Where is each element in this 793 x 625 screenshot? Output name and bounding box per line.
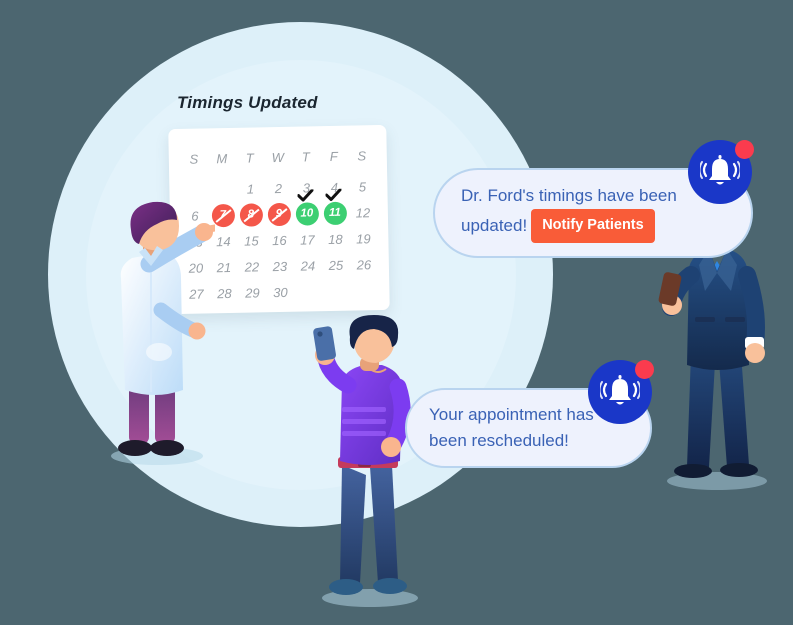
weekday-label: T (293, 143, 319, 169)
calendar-day[interactable]: 1 (237, 175, 263, 201)
calendar-day[interactable]: 15 (238, 227, 264, 253)
weekday-label: T (237, 144, 263, 170)
day-marker: 8 (239, 203, 262, 226)
weekday-label: S (181, 145, 207, 171)
calendar-weekday-header: S M T W T F S (181, 143, 375, 171)
notification-text: Your appointment has been rescheduled! (429, 402, 594, 455)
checkmark-icon (297, 189, 313, 201)
notification-text: Dr. Ford's timings have been updated!Not… (461, 183, 725, 243)
calendar-day-empty (323, 278, 349, 304)
weekday-label: S (349, 142, 375, 168)
calendar-day[interactable]: 16 (266, 227, 292, 253)
day-marker: 11 (323, 201, 346, 224)
bell-icon (700, 153, 740, 191)
calendar-day-empty (209, 176, 235, 202)
character-doctor (105, 200, 215, 465)
notification-line-2: been rescheduled! (429, 431, 569, 450)
notification-line-2: updated! (461, 216, 527, 235)
calendar-day[interactable]: 12 (350, 199, 376, 225)
calendar-day[interactable]: 30 (267, 279, 293, 305)
calendar-day-empty (351, 277, 377, 303)
character-patient (312, 315, 432, 607)
calendar-day-confirmed[interactable]: 11 (322, 200, 348, 226)
calendar-day[interactable]: 5 (349, 173, 375, 199)
checkmark-icon (325, 189, 341, 201)
calendar-day[interactable]: 23 (267, 253, 293, 279)
calendar-day[interactable]: 19 (350, 225, 376, 251)
bell-badge-patient[interactable] (588, 360, 652, 424)
notify-patients-button[interactable]: Notify Patients (531, 209, 655, 242)
bell-icon (600, 373, 640, 411)
notification-badge-dot (635, 360, 654, 379)
notification-line-1: Your appointment has (429, 405, 594, 424)
bell-badge-doctor[interactable] (688, 140, 752, 204)
calendar-day[interactable]: 29 (239, 279, 265, 305)
calendar-day[interactable]: 26 (351, 251, 377, 277)
calendar-day-empty (295, 278, 321, 304)
weekday-label: W (265, 144, 291, 170)
calendar-day-cancelled[interactable]: 9 (266, 201, 292, 227)
notification-line-1: Dr. Ford's timings have been (461, 186, 677, 205)
illustration-scene: Timings Updated S M T W T F S 1234567891… (0, 0, 793, 625)
calendar-day[interactable]: 18 (322, 226, 348, 252)
page-title: Timings Updated (177, 93, 318, 113)
weekday-label: F (321, 143, 347, 169)
calendar-day[interactable]: 25 (323, 252, 349, 278)
calendar-week-row: 12345 (181, 173, 375, 203)
calendar-day[interactable]: 28 (211, 280, 237, 306)
calendar-day[interactable]: 17 (294, 226, 320, 252)
notification-badge-dot (735, 140, 754, 159)
calendar-day-confirmed[interactable]: 10 (294, 200, 320, 226)
day-marker: 9 (267, 202, 290, 225)
calendar-day[interactable]: 22 (239, 253, 265, 279)
calendar-day[interactable]: 24 (295, 252, 321, 278)
weekday-label: M (209, 145, 235, 171)
calendar-day-empty (181, 176, 207, 202)
day-marker: 10 (295, 202, 318, 225)
calendar-day-cancelled[interactable]: 8 (238, 201, 264, 227)
calendar-day[interactable]: 2 (265, 175, 291, 201)
